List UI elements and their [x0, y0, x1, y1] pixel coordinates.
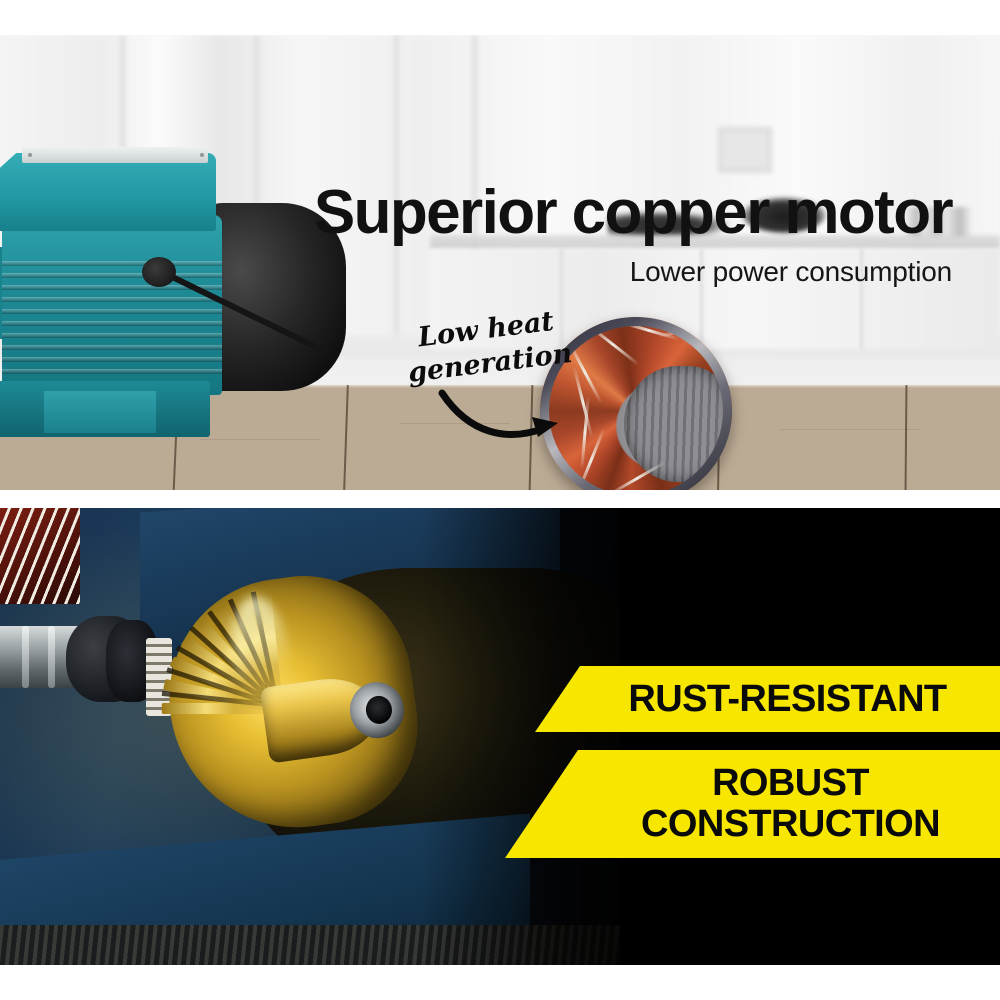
brass-impeller [91, 517, 464, 890]
photo-fade-to-black [420, 508, 620, 965]
motor-cooling-fins [2, 259, 222, 379]
curved-arrow-right-icon [436, 387, 566, 447]
wood-grain [780, 429, 920, 430]
motor-winding-fragment [0, 508, 80, 604]
motor-nameplate [22, 147, 208, 163]
motor-terminal-box [0, 153, 216, 231]
kitchen-vent-icon [718, 127, 772, 173]
top-feature-panel: Superior copper motor Lower power consum… [0, 35, 1000, 490]
pump-motor-icon [0, 119, 338, 449]
nameplate-screw [200, 153, 204, 157]
section-divider [0, 490, 1000, 508]
product-feature-poster: Superior copper motor Lower power consum… [0, 0, 1000, 1000]
wood-plank-seam [905, 385, 908, 490]
feature-banner-rust-resistant: RUST-RESISTANT [505, 666, 1000, 732]
wood-plank-seam [343, 385, 349, 490]
top-headline: Superior copper motor [252, 182, 952, 244]
nameplate-screw [28, 153, 32, 157]
top-subheadline: Lower power consumption [352, 257, 952, 288]
brass-impeller-cutaway-icon [0, 508, 620, 965]
bottom-feature-panel: Brass impeller [0, 508, 1000, 965]
cable-grommet [142, 257, 176, 287]
motor-foot-plate [44, 391, 156, 433]
